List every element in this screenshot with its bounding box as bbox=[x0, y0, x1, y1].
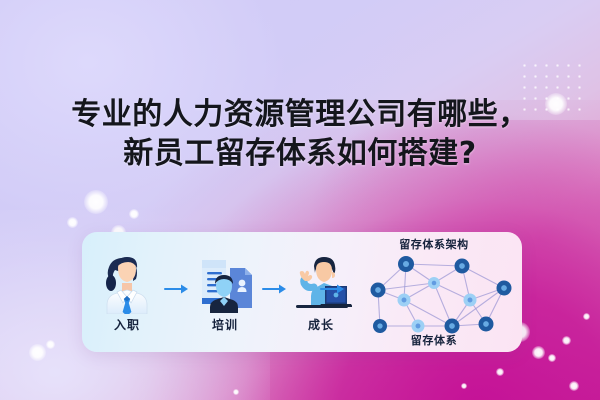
network-node bbox=[398, 256, 414, 272]
employee-onboarding-icon bbox=[96, 250, 158, 314]
page-title: 专业的人力资源管理公司有哪些， 新员工留存体系如何搭建? bbox=[0, 95, 600, 173]
step-onboarding[interactable]: 入职 bbox=[96, 250, 158, 333]
step-training-label: 培训 bbox=[194, 316, 256, 333]
arrow-right-icon-2 bbox=[262, 282, 288, 296]
arrow-right-icon-1 bbox=[164, 282, 190, 296]
step-onboarding-label: 入职 bbox=[96, 316, 158, 333]
network-caption-bottom: 留存体系 bbox=[354, 332, 514, 348]
network-node bbox=[412, 320, 425, 333]
network-node bbox=[464, 294, 477, 307]
network-node bbox=[428, 277, 440, 289]
step-training[interactable]: 培训 bbox=[194, 250, 256, 333]
network-node bbox=[371, 283, 386, 298]
training-documents-icon bbox=[194, 250, 256, 314]
title-line-1: 专业的人力资源管理公司有哪些， bbox=[0, 95, 600, 134]
network-node bbox=[479, 317, 494, 332]
process-card: 入职 bbox=[82, 232, 522, 352]
step-growth-label: 成长 bbox=[290, 316, 352, 333]
network-edge bbox=[406, 264, 462, 266]
network-node bbox=[455, 259, 470, 274]
network-edge bbox=[378, 283, 434, 290]
process-card-content: 入职 bbox=[82, 232, 522, 352]
network-node bbox=[398, 294, 411, 307]
arrow-right-icon-3 bbox=[320, 282, 346, 296]
network-node bbox=[373, 319, 387, 333]
network-edge bbox=[452, 288, 504, 326]
network-node bbox=[497, 281, 512, 296]
poster-canvas: 专业的人力资源管理公司有哪些， 新员工留存体系如何搭建? bbox=[0, 0, 600, 400]
title-line-2: 新员工留存体系如何搭建? bbox=[0, 134, 600, 173]
